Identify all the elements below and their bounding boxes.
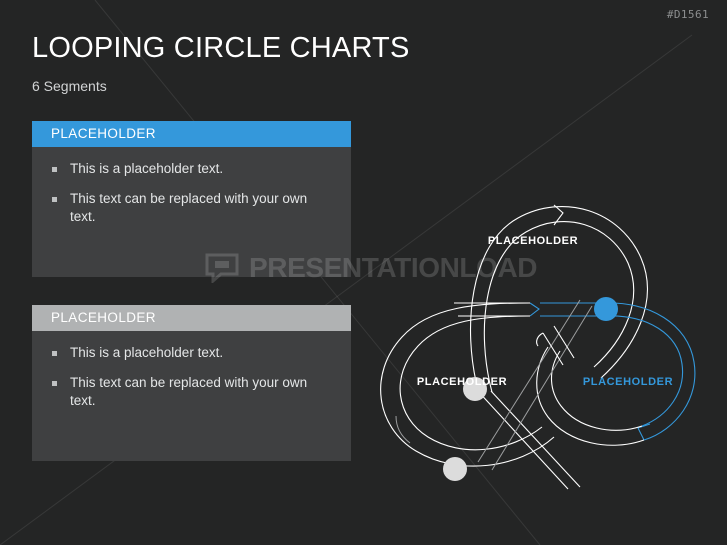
slide: #D1561 LOOPING CIRCLE CHARTS 6 Segments … bbox=[0, 0, 727, 545]
square-bullet-icon bbox=[52, 197, 57, 202]
card-1-bullet-2: This text can be replaced with your own … bbox=[70, 190, 325, 227]
text-card-1[interactable]: PLACEHOLDER This is a placeholder text. … bbox=[32, 121, 351, 277]
card-2-body: This is a placeholder text. This text ca… bbox=[32, 331, 351, 411]
list-item: This text can be replaced with your own … bbox=[52, 190, 335, 227]
page-title: LOOPING CIRCLE CHARTS bbox=[32, 31, 410, 65]
text-card-2[interactable]: PLACEHOLDER This is a placeholder text. … bbox=[32, 305, 351, 461]
document-id: #D1561 bbox=[667, 8, 709, 21]
square-bullet-icon bbox=[52, 351, 57, 356]
card-2-bullet-1: This is a placeholder text. bbox=[70, 344, 223, 363]
looping-circle-diagram[interactable]: .band-w { fill:none; stroke:#ffffff; str… bbox=[358, 140, 718, 490]
card-1-bullet-1: This is a placeholder text. bbox=[70, 160, 223, 179]
node-right[interactable] bbox=[594, 297, 618, 321]
list-item: This is a placeholder text. bbox=[52, 160, 335, 179]
loop-top[interactable] bbox=[471, 205, 648, 392]
loop-bottom-right[interactable] bbox=[530, 303, 695, 445]
square-bullet-icon bbox=[52, 381, 57, 386]
loop-bottom-right-label: PLACEHOLDER bbox=[583, 376, 673, 388]
loop-top-label: PLACEHOLDER bbox=[488, 235, 578, 247]
card-1-header: PLACEHOLDER bbox=[32, 121, 351, 147]
card-2-bullet-2: This text can be replaced with your own … bbox=[70, 374, 325, 411]
list-item: This is a placeholder text. bbox=[52, 344, 335, 363]
page-subtitle: 6 Segments bbox=[32, 78, 107, 94]
card-2-header: PLACEHOLDER bbox=[32, 305, 351, 331]
node-bottom[interactable] bbox=[443, 457, 467, 481]
list-item: This text can be replaced with your own … bbox=[52, 374, 335, 411]
loop-bottom-left-label: PLACEHOLDER bbox=[417, 376, 507, 388]
card-1-body: This is a placeholder text. This text ca… bbox=[32, 147, 351, 227]
square-bullet-icon bbox=[52, 167, 57, 172]
